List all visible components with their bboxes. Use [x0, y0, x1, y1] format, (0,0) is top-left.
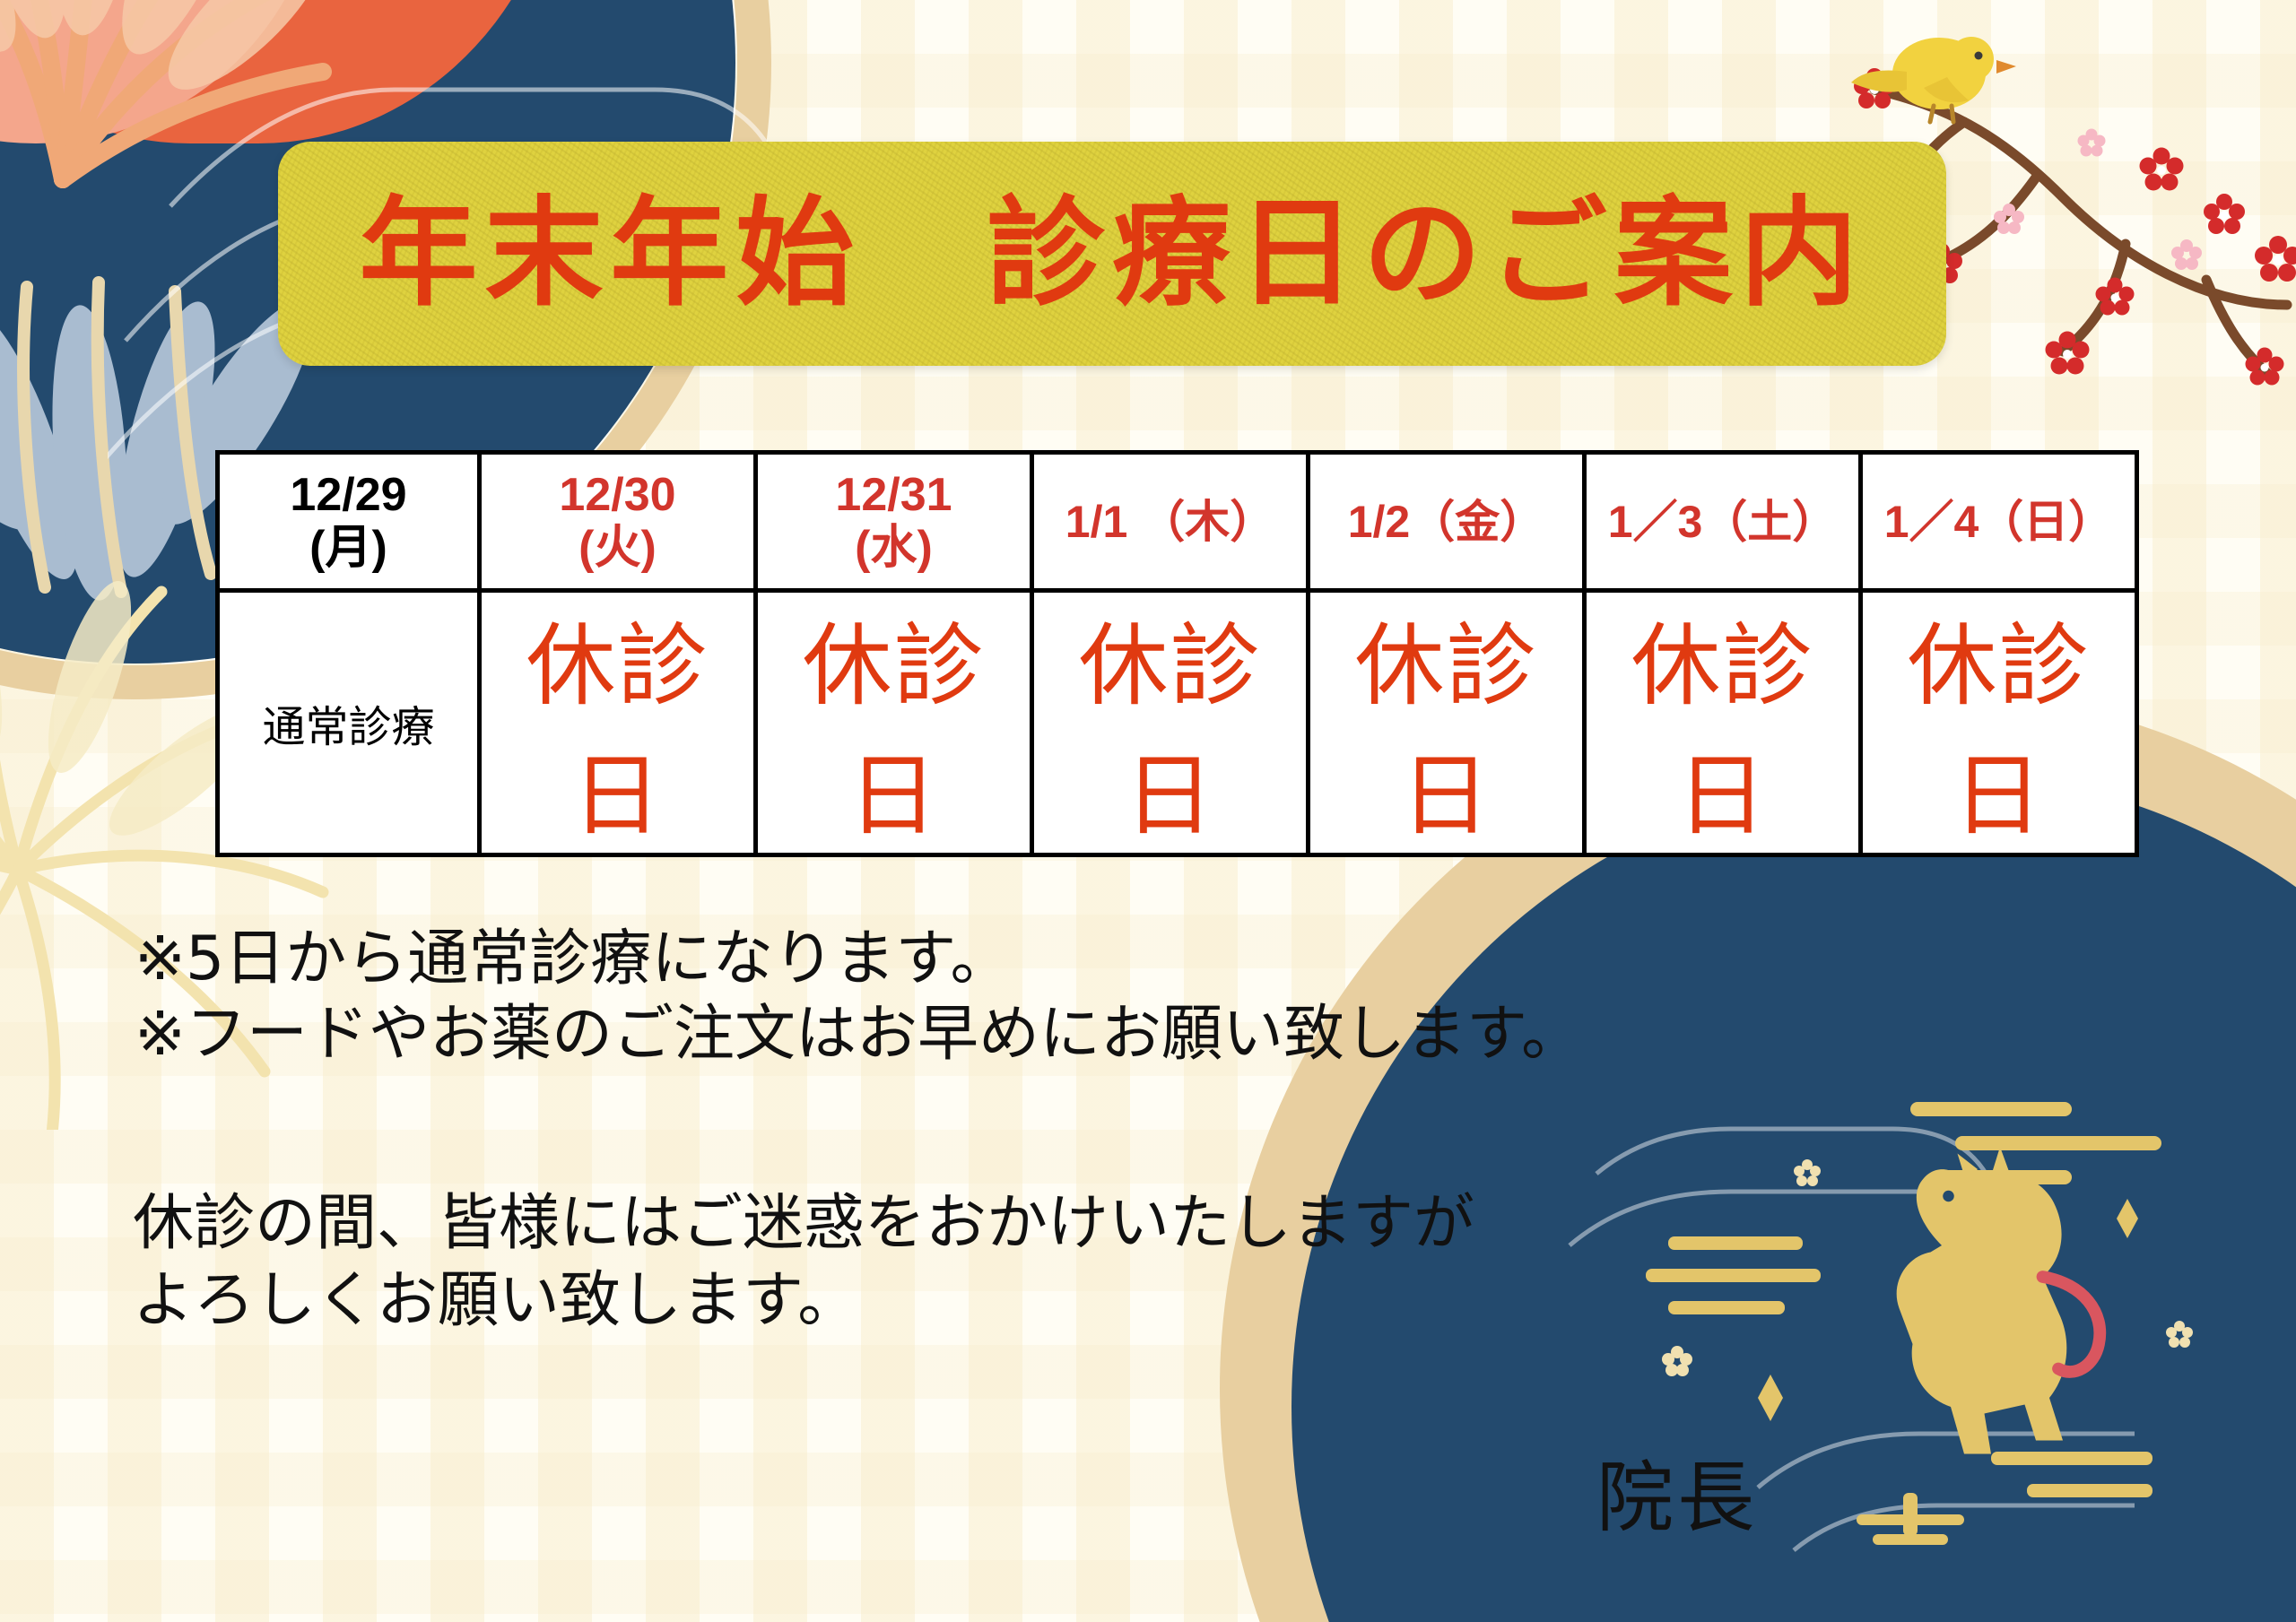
note-line: ※5日から通常診療になります。: [135, 922, 1582, 997]
table-status-cell: 休診日: [480, 591, 756, 855]
header-date: 1／3（土）: [1587, 497, 1858, 547]
title-banner: 年末年始 診療日のご案内: [278, 142, 1946, 366]
table-header-cell: 12/30 (火): [480, 453, 756, 591]
table-status-cell: 休診日: [1309, 591, 1585, 855]
header-date: 1/2（金）: [1310, 497, 1582, 547]
table-header-cell: 12/29 (月): [218, 453, 480, 591]
apology-paragraph: 休診の間、皆様にはご迷惑をおかけいたしますが よろしくお願い致します。: [133, 1185, 1474, 1339]
table-header-cell: 1/1 （木）: [1032, 453, 1309, 591]
header-weekday: (火): [482, 522, 753, 574]
header-date: 12/29: [220, 469, 477, 521]
bird-icon: [1851, 37, 2016, 122]
status-label: 休診日: [1034, 593, 1306, 853]
status-label: 休診日: [1863, 593, 2135, 853]
header-date: 1／4（日）: [1863, 497, 2135, 547]
table-status-cell: 休診日: [1585, 591, 1861, 855]
header-date: 12/31: [758, 469, 1030, 521]
new-year-clinic-notice-poster: 年末年始 診療日のご案内 12/29 (月) 12/30 (火) 12/31 (…: [0, 0, 2296, 1622]
horse-silhouette: [1897, 1147, 2100, 1454]
note-line: ※フードやお薬のご注文はお早めにお願い致します。: [135, 997, 1582, 1072]
status-label: 通常診療: [220, 691, 477, 754]
paragraph-line: 休診の間、皆様にはご迷惑をおかけいたしますが: [133, 1185, 1474, 1262]
header-weekday: (水): [758, 522, 1030, 574]
signature: 院長: [1596, 1435, 1759, 1547]
table-status-cell: 通常診療: [218, 591, 480, 855]
notes-block: ※5日から通常診療になります。 ※フードやお薬のご注文はお早めにお願い致します。: [135, 922, 1582, 1073]
page-title: 年末年始 診療日のご案内: [359, 195, 1865, 313]
status-label: 休診日: [758, 593, 1030, 853]
table-status-row: 通常診療 休診日 休診日 休診日 休診日 休診日 休診日: [218, 591, 2137, 855]
table-status-cell: 休診日: [756, 591, 1032, 855]
table-status-cell: 休診日: [1861, 591, 2137, 855]
table-header-row: 12/29 (月) 12/30 (火) 12/31 (水) 1/1 （木） 1/…: [218, 453, 2137, 591]
header-date: 1/1 （木）: [1034, 497, 1306, 547]
schedule-table: 12/29 (月) 12/30 (火) 12/31 (水) 1/1 （木） 1/…: [215, 450, 2139, 857]
status-label: 休診日: [482, 593, 753, 853]
table-header-cell: 12/31 (水): [756, 453, 1032, 591]
status-label: 休診日: [1310, 593, 1582, 853]
header-date: 12/30: [482, 469, 753, 521]
table-header-cell: 1/2（金）: [1309, 453, 1585, 591]
table-status-cell: 休診日: [1032, 591, 1309, 855]
paragraph-line: よろしくお願い致します。: [133, 1262, 1474, 1340]
table-header-cell: 1／4（日）: [1861, 453, 2137, 591]
table-header-cell: 1／3（土）: [1585, 453, 1861, 591]
header-weekday: (月): [220, 522, 477, 574]
status-label: 休診日: [1587, 593, 1858, 853]
